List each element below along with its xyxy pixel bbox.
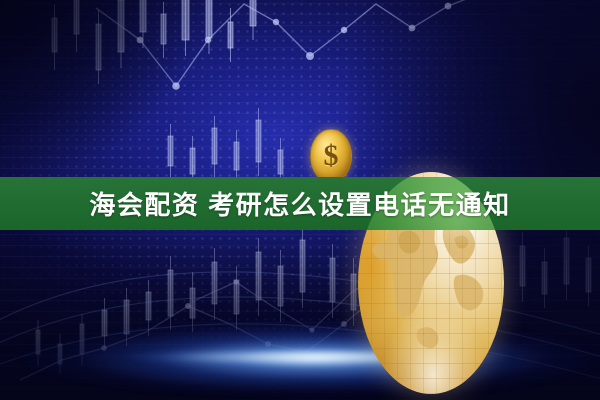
banner-image: $ 海会配资 考研怎么设置电话无通知 — [0, 0, 600, 400]
gold-dollar-coin: $ — [310, 129, 352, 183]
dollar-sign-icon: $ — [324, 141, 339, 171]
title-band: 海会配资 考研怎么设置电话无通知 — [0, 177, 600, 230]
page-title: 海会配资 考研怎么设置电话无通知 — [89, 185, 510, 222]
